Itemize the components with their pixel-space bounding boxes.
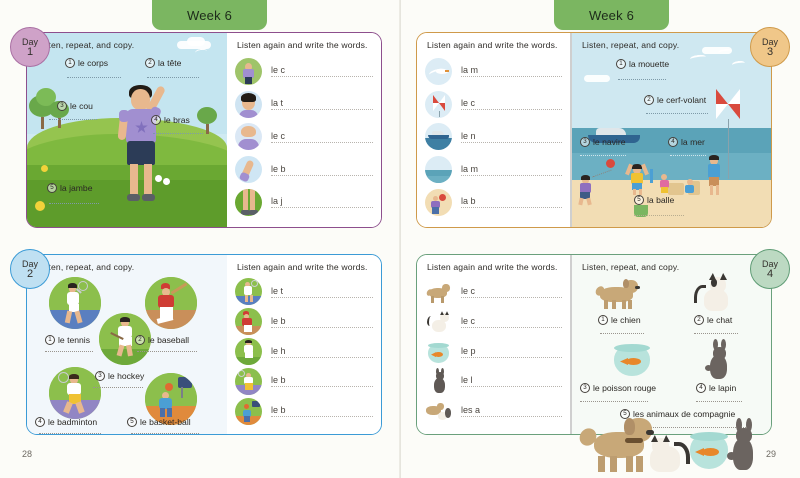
write-word: la j bbox=[271, 196, 373, 206]
label-number: 5 bbox=[127, 417, 137, 427]
kite-thumb bbox=[425, 91, 452, 118]
day-1-write-column: Listen again and write the words. le c bbox=[227, 33, 381, 227]
write-row[interactable]: la t bbox=[235, 88, 373, 121]
write-row[interactable]: le c bbox=[425, 277, 562, 307]
write-row[interactable]: le b bbox=[235, 153, 373, 186]
label-text: le badminton bbox=[48, 417, 97, 427]
write-word: la b bbox=[461, 196, 562, 206]
write-line[interactable] bbox=[271, 142, 373, 143]
write-line[interactable] bbox=[461, 416, 562, 417]
dog-thumb bbox=[425, 278, 452, 305]
day-1-scene-prompt: Listen, repeat, and copy. bbox=[37, 40, 134, 50]
label-number: 1 bbox=[616, 59, 626, 69]
write-line[interactable] bbox=[461, 207, 562, 208]
label-text: le cerf-volant bbox=[657, 95, 706, 105]
label-text: le cou bbox=[70, 101, 93, 111]
write-line[interactable] bbox=[271, 416, 373, 417]
label-number: 3 bbox=[580, 137, 590, 147]
child-kneeling-illustration bbox=[684, 179, 696, 195]
write-word: la t bbox=[271, 98, 373, 108]
write-line[interactable] bbox=[461, 142, 562, 143]
sea-thumb bbox=[425, 156, 452, 183]
hockey-thumb bbox=[235, 338, 262, 365]
label-number: 4 bbox=[151, 115, 161, 125]
big-fishbowl-icon bbox=[688, 430, 730, 470]
write-line[interactable] bbox=[461, 327, 562, 328]
label-text: le bras bbox=[164, 115, 190, 125]
seagull-thumb bbox=[425, 58, 452, 85]
flower-icon bbox=[35, 201, 45, 211]
basketball-thumb bbox=[235, 398, 262, 425]
write-word: le n bbox=[461, 131, 562, 141]
write-word: la m bbox=[461, 65, 562, 75]
neck-thumb bbox=[235, 123, 262, 150]
day-2-label-2: 2 le baseball bbox=[135, 335, 189, 345]
week-tab-right[interactable]: Week 6 bbox=[554, 0, 669, 30]
write-word: le c bbox=[461, 98, 562, 108]
day-2-panel: Listen, repeat, and copy. bbox=[26, 254, 382, 435]
workbook-spread: Week 6 Week 6 bbox=[0, 0, 800, 478]
label-text: la mer bbox=[681, 137, 705, 147]
write-row[interactable]: la b bbox=[425, 186, 562, 219]
day-4-label-3: 3 le poisson rouge bbox=[580, 383, 656, 393]
head-thumb bbox=[235, 91, 262, 118]
badminton-thumb bbox=[235, 368, 262, 395]
day-4-scene-prompt: Listen, repeat, and copy. bbox=[582, 262, 679, 272]
week-tab-left[interactable]: Week 6 bbox=[152, 0, 267, 30]
write-line[interactable] bbox=[461, 175, 562, 176]
write-word: le c bbox=[271, 65, 373, 75]
rabbit-illustration bbox=[702, 341, 736, 379]
tree-icon bbox=[197, 107, 217, 134]
day-2-scene: Listen, repeat, and copy. bbox=[27, 255, 227, 434]
badminton-illustration bbox=[49, 367, 101, 419]
write-line[interactable] bbox=[271, 207, 373, 208]
day-number: 4 bbox=[767, 269, 773, 279]
write-row[interactable]: le b bbox=[235, 396, 373, 426]
label-number: 4 bbox=[35, 417, 45, 427]
write-row[interactable]: le b bbox=[235, 307, 373, 337]
label-number: 1 bbox=[598, 315, 608, 325]
write-row[interactable]: le h bbox=[235, 337, 373, 367]
day-1-label-1: 1 le corps bbox=[65, 58, 108, 68]
day-3-write-prompt: Listen again and write the words. bbox=[427, 40, 558, 50]
dog-illustration bbox=[596, 277, 644, 309]
day-3-write-column: Listen again and write the words. la m bbox=[417, 33, 571, 227]
write-row[interactable]: les a bbox=[425, 396, 562, 426]
day-3-scene-prompt: Listen, repeat, and copy. bbox=[582, 40, 679, 50]
cat-illustration bbox=[694, 273, 740, 311]
page-number-left: 28 bbox=[22, 449, 32, 459]
write-word: le b bbox=[271, 164, 373, 174]
label-number: 1 bbox=[65, 58, 75, 68]
tennis-illustration bbox=[49, 277, 101, 329]
spade-icon bbox=[650, 169, 653, 183]
label-text: le poisson rouge bbox=[593, 383, 656, 393]
tennis-thumb bbox=[235, 278, 262, 305]
write-line[interactable] bbox=[461, 76, 562, 77]
day-number: 1 bbox=[27, 47, 33, 57]
day-1-write-prompt: Listen again and write the words. bbox=[237, 40, 368, 50]
day-4-label-1: 1 le chien bbox=[598, 315, 641, 325]
write-line[interactable] bbox=[461, 109, 562, 110]
label-number: 1 bbox=[45, 335, 55, 345]
page-gutter bbox=[399, 0, 401, 478]
write-row[interactable]: la m bbox=[425, 55, 562, 88]
pets-group-illustration bbox=[580, 408, 760, 470]
write-line[interactable] bbox=[271, 109, 373, 110]
label-text: le corps bbox=[78, 58, 108, 68]
legs-thumb bbox=[235, 189, 262, 216]
baseball-illustration bbox=[145, 277, 197, 329]
day-3-label-4: 4 la mer bbox=[668, 137, 705, 147]
write-row[interactable]: le p bbox=[425, 337, 562, 367]
day-2-scene-prompt: Listen, repeat, and copy. bbox=[37, 262, 134, 272]
write-row[interactable]: le b bbox=[235, 366, 373, 396]
day-4-label-4: 4 le lapin bbox=[696, 383, 736, 393]
goldfish-bowl-illustration bbox=[612, 343, 654, 377]
man-with-kite-illustration bbox=[705, 157, 723, 195]
ball-icon bbox=[606, 159, 615, 168]
write-word: le t bbox=[271, 286, 373, 296]
goldfish-thumb bbox=[425, 338, 452, 365]
kite-illustration bbox=[716, 89, 740, 119]
write-row[interactable]: la j bbox=[235, 186, 373, 219]
write-line[interactable] bbox=[271, 386, 373, 387]
day-1-panel: Listen, repeat, and copy. 1 le corps 2 l… bbox=[26, 32, 382, 228]
big-rabbit-icon bbox=[726, 422, 760, 470]
write-row[interactable]: la m bbox=[425, 153, 562, 186]
write-row[interactable]: le c bbox=[425, 307, 562, 337]
write-word: le c bbox=[461, 316, 562, 326]
cat-thumb bbox=[425, 308, 452, 335]
week-tab-left-label: Week 6 bbox=[187, 8, 232, 23]
label-number: 4 bbox=[696, 383, 706, 393]
child-throwing-illustration bbox=[576, 175, 596, 205]
label-text: la jambe bbox=[60, 183, 92, 193]
day-number: 3 bbox=[767, 47, 773, 57]
write-word: le p bbox=[461, 346, 562, 356]
label-number: 2 bbox=[694, 315, 704, 325]
write-line[interactable] bbox=[461, 357, 562, 358]
day-2-write-column: Listen again and write the words. le bbox=[227, 255, 381, 434]
label-text: le chat bbox=[707, 315, 732, 325]
label-text: le chien bbox=[611, 315, 641, 325]
label-text: le navire bbox=[593, 137, 625, 147]
day-3-badge: Day 3 bbox=[750, 27, 790, 67]
write-row[interactable]: le c bbox=[425, 88, 562, 121]
write-row[interactable]: le n bbox=[425, 121, 562, 154]
label-number: 3 bbox=[95, 371, 105, 381]
day-1-label-3: 3 le cou bbox=[57, 101, 93, 111]
day-2-label-1: 1 le tennis bbox=[45, 335, 90, 345]
write-word: le b bbox=[271, 316, 373, 326]
day-4-write-prompt: Listen again and write the words. bbox=[427, 262, 558, 272]
day-3-panel: Listen again and write the words. la m bbox=[416, 32, 772, 228]
day-2-write-prompt: Listen again and write the words. bbox=[237, 262, 368, 272]
sandcastle-illustration bbox=[668, 183, 684, 195]
write-word: la m bbox=[461, 164, 562, 174]
write-line[interactable] bbox=[271, 357, 373, 358]
label-number: 3 bbox=[57, 101, 67, 111]
day-4-badge: Day 4 bbox=[750, 249, 790, 289]
day-4-write-column: Listen again and write the words. le c bbox=[417, 255, 571, 434]
write-line[interactable] bbox=[271, 327, 373, 328]
rabbit-thumb bbox=[425, 368, 452, 395]
label-text: la mouette bbox=[629, 59, 669, 69]
label-number: 2 bbox=[145, 58, 155, 68]
write-row[interactable]: le c bbox=[235, 55, 373, 88]
write-word: le c bbox=[461, 286, 562, 296]
label-text: le tennis bbox=[58, 335, 90, 345]
day-3-label-3: 3 le navire bbox=[580, 137, 625, 147]
write-word: le b bbox=[271, 375, 373, 385]
label-text: le hockey bbox=[108, 371, 144, 381]
week-tab-right-label: Week 6 bbox=[589, 8, 634, 23]
flower-icon bbox=[41, 165, 48, 172]
write-line[interactable] bbox=[461, 386, 562, 387]
write-line[interactable] bbox=[461, 297, 562, 298]
day-1-badge: Day 1 bbox=[10, 27, 50, 67]
label-text: la tête bbox=[158, 58, 181, 68]
page-number-right: 29 bbox=[766, 449, 776, 459]
write-line[interactable] bbox=[271, 297, 373, 298]
write-word: le h bbox=[271, 346, 373, 356]
ship-thumb bbox=[425, 123, 452, 150]
write-word: le c bbox=[271, 131, 373, 141]
write-line[interactable] bbox=[271, 175, 373, 176]
write-row[interactable]: le l bbox=[425, 366, 562, 396]
write-word: les a bbox=[461, 405, 562, 415]
ball-thumb bbox=[425, 189, 452, 216]
label-text: le baseball bbox=[148, 335, 189, 345]
label-number: 5 bbox=[47, 183, 57, 193]
label-number: 4 bbox=[668, 137, 678, 147]
write-row[interactable]: le t bbox=[235, 277, 373, 307]
day-4-label-2: 2 le chat bbox=[694, 315, 732, 325]
label-number: 2 bbox=[135, 335, 145, 345]
cloud-icon bbox=[187, 37, 205, 46]
label-number: 3 bbox=[580, 383, 590, 393]
day-3-scene: Listen, repeat, and copy. 1 la mouette 2… bbox=[571, 33, 771, 227]
day-1-label-4: 4 le bras bbox=[151, 115, 190, 125]
arm-thumb bbox=[235, 156, 262, 183]
cloud-icon bbox=[584, 75, 610, 82]
boy-illustration bbox=[113, 79, 169, 207]
day-3-label-2: 2 le cerf-volant bbox=[644, 95, 706, 105]
label-number: 5 bbox=[634, 195, 644, 205]
child-digging-illustration bbox=[658, 173, 670, 193]
label-text: le basket-ball bbox=[140, 417, 191, 427]
write-word: le b bbox=[271, 405, 373, 415]
label-number: 2 bbox=[644, 95, 654, 105]
pets-group-thumb bbox=[425, 398, 452, 425]
day-2-label-5: 5 le basket-ball bbox=[127, 417, 191, 427]
day-2-badge: Day 2 bbox=[10, 249, 50, 289]
write-line[interactable] bbox=[271, 76, 373, 77]
day-3-label-5: 5 la balle bbox=[634, 195, 674, 205]
label-text: le lapin bbox=[709, 383, 736, 393]
label-text: la balle bbox=[647, 195, 674, 205]
day-2-label-3: 3 le hockey bbox=[95, 371, 144, 381]
write-word: le l bbox=[461, 375, 562, 385]
boy-body-thumb bbox=[235, 58, 262, 85]
write-row[interactable]: le c bbox=[235, 121, 373, 154]
day-1-label-2: 2 la tête bbox=[145, 58, 181, 68]
baseball-thumb bbox=[235, 308, 262, 335]
day-2-label-4: 4 le badminton bbox=[35, 417, 97, 427]
child-arms-up-illustration bbox=[628, 161, 646, 195]
day-number: 2 bbox=[27, 269, 33, 279]
day-1-label-5: 5 la jambe bbox=[47, 183, 92, 193]
day-1-scene: Listen, repeat, and copy. 1 le corps 2 l… bbox=[27, 33, 227, 227]
day-3-label-1: 1 la mouette bbox=[616, 59, 669, 69]
big-cat-icon bbox=[642, 436, 692, 472]
